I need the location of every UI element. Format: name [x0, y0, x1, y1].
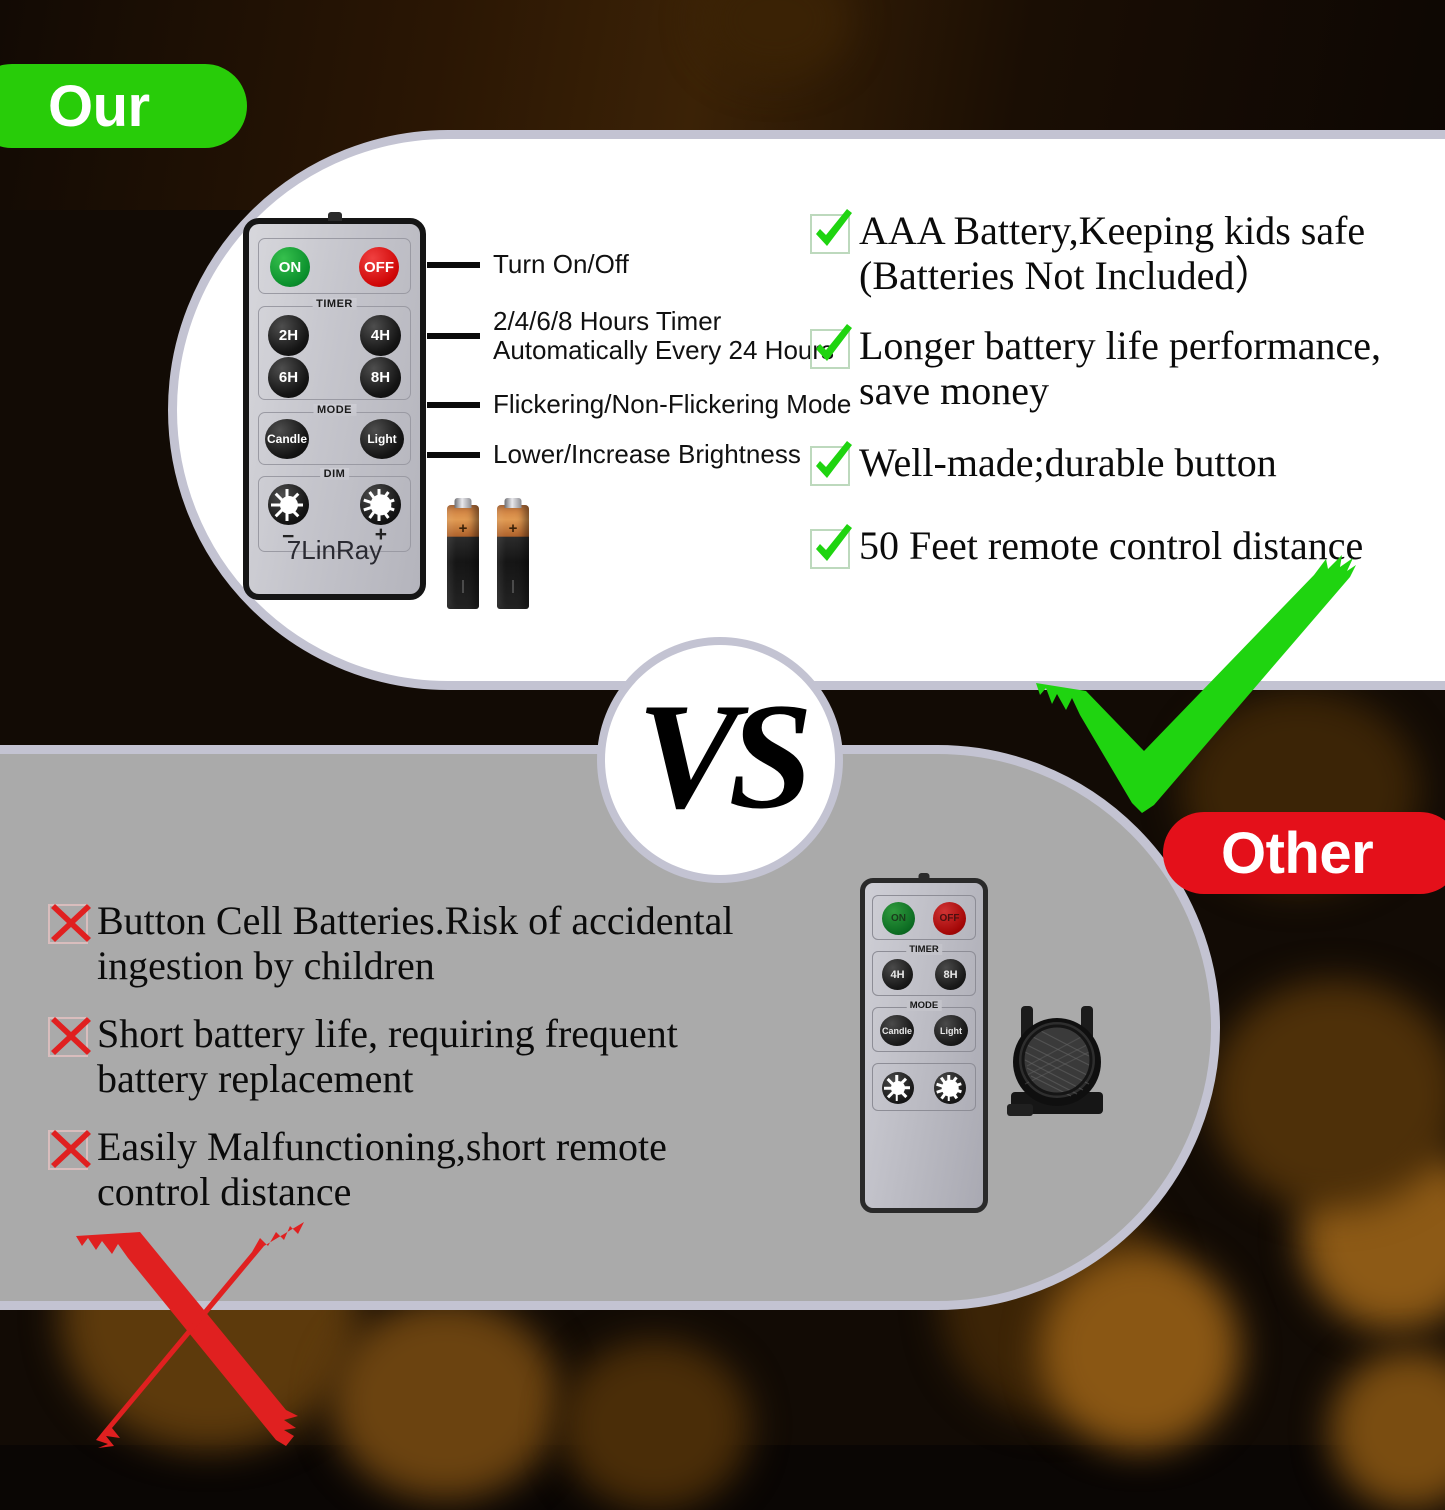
remote-brand-label: 7LinRay [249, 535, 420, 566]
callout-leader-line [427, 333, 480, 339]
other-mode-light-button[interactable]: Light [934, 1015, 968, 1046]
con-bullet-text: Easily Malfunctioning,short remote contr… [97, 1124, 667, 1214]
mode-group: MODE Candle Light [258, 412, 411, 465]
our-badge: Our [0, 64, 247, 148]
con-bullet: Button Cell Batteries.Risk of accidental… [48, 898, 734, 988]
callout-brightness: Lower/Increase Brightness [427, 440, 801, 469]
brightness-low-icon [268, 484, 309, 525]
checkmark-icon [810, 446, 850, 486]
callout-power: Turn On/Off [427, 250, 629, 279]
brightness-low-icon [882, 1072, 914, 1104]
brightness-high-icon [934, 1072, 966, 1104]
other-timer-4h-label: 4H [890, 969, 904, 981]
battery-polarity-label: + [447, 521, 479, 536]
callout-text: Flickering/Non-Flickering Mode [493, 390, 851, 419]
callout-mode: Flickering/Non-Flickering Mode [427, 390, 851, 419]
checkmark-icon [810, 529, 850, 569]
power-off-label: OFF [364, 259, 394, 276]
battery-terminal [505, 498, 522, 508]
bokeh-circle [330, 1300, 560, 1500]
other-timer-group: TIMER 4H 8H [872, 951, 976, 996]
bokeh-circle [1210, 980, 1445, 1210]
callout-text: Turn On/Off [493, 250, 629, 279]
con-bullet-text: Button Cell Batteries.Risk of accidental… [97, 898, 734, 988]
other-remote-control: ON OFF TIMER 4H 8H MODE Candle Light [860, 878, 988, 1213]
other-power-off-label: OFF [940, 913, 960, 924]
remote-ir-nub [328, 212, 342, 221]
cross-icon [48, 1017, 88, 1057]
other-mode-group-label: MODE [907, 1000, 942, 1011]
bokeh-circle [560, 1340, 750, 1510]
other-power-on-label: ON [891, 913, 906, 924]
timer-2h-button[interactable]: 2H [268, 315, 309, 356]
checkmark-icon [810, 214, 850, 254]
battery-stripe [512, 580, 514, 593]
mode-light-label: Light [367, 432, 396, 446]
battery-polarity-label: + [497, 521, 529, 536]
timer-4h-label: 4H [371, 327, 390, 344]
vs-badge: VS [597, 637, 843, 883]
mode-group-label: MODE [313, 404, 356, 416]
callout-leader-line [427, 452, 480, 458]
button-cell-battery-holder [1003, 1000, 1111, 1118]
bokeh-circle [1330, 1350, 1445, 1510]
timer-6h-button[interactable]: 6H [268, 357, 309, 398]
pro-bullet: Well-made;durable button [810, 440, 1277, 486]
vs-label: VS [637, 669, 803, 843]
pro-bullet-text: Longer battery life performance, save mo… [859, 323, 1381, 413]
callout-timer: 2/4/6/8 Hours Timer Automatically Every … [427, 307, 834, 366]
mode-candle-label: Candle [267, 432, 307, 446]
pro-bullet-text: AAA Battery,Keeping kids safe (Batteries… [859, 208, 1365, 298]
other-mode-candle-button[interactable]: Candle [880, 1015, 914, 1046]
timer-2h-label: 2H [279, 327, 298, 344]
con-bullet: Easily Malfunctioning,short remote contr… [48, 1124, 667, 1214]
callout-text: 2/4/6/8 Hours Timer Automatically Every … [493, 307, 834, 366]
con-bullet-text: Short battery life, requiring frequent b… [97, 1011, 678, 1101]
timer-group: TIMER 2H 4H 6H 8H [258, 306, 411, 400]
dim-group-label: DIM [320, 468, 350, 480]
cross-icon [48, 1130, 88, 1170]
other-mode-candle-label: Candle [882, 1026, 912, 1036]
callout-leader-line [427, 402, 480, 408]
dim-up-button[interactable] [360, 484, 401, 525]
bokeh-circle [1040, 1250, 1240, 1450]
battery-stripe [462, 580, 464, 593]
big-cross-icon [58, 1208, 338, 1448]
timer-4h-button[interactable]: 4H [360, 315, 401, 356]
power-off-button[interactable]: OFF [359, 247, 399, 287]
checkmark-icon [810, 329, 850, 369]
other-power-group: ON OFF [872, 895, 976, 940]
timer-8h-label: 8H [371, 369, 390, 386]
other-mode-light-label: Light [940, 1026, 962, 1036]
pro-bullet-text: Well-made;durable button [859, 440, 1277, 485]
other-timer-group-label: TIMER [906, 944, 942, 955]
other-timer-8h-button[interactable]: 8H [935, 959, 966, 990]
mode-light-button[interactable]: Light [360, 419, 404, 459]
callout-text: Lower/Increase Brightness [493, 440, 801, 469]
other-dim-down-button[interactable] [882, 1072, 914, 1104]
power-on-label: ON [279, 259, 302, 276]
brightness-high-icon [360, 484, 401, 525]
timer-group-label: TIMER [312, 298, 357, 310]
dim-down-button[interactable] [268, 484, 309, 525]
big-checkmark-icon [1020, 555, 1380, 820]
other-power-on-button[interactable]: ON [882, 902, 915, 935]
other-power-off-button[interactable]: OFF [933, 902, 966, 935]
other-badge: Other [1163, 812, 1445, 894]
other-badge-label: Other [1221, 820, 1373, 887]
power-group: ON OFF [258, 238, 411, 294]
other-dim-group [872, 1063, 976, 1111]
other-timer-8h-label: 8H [943, 969, 957, 981]
cross-icon [48, 904, 88, 944]
con-bullet: Short battery life, requiring frequent b… [48, 1011, 678, 1101]
battery-terminal [455, 498, 472, 508]
callout-leader-line [427, 262, 480, 268]
aaa-battery: + [497, 505, 529, 609]
our-badge-label: Our [48, 73, 150, 140]
our-remote-control: ON OFF TIMER 2H 4H 6H 8H MODE Candle Lig… [243, 218, 426, 600]
pro-bullet: Longer battery life performance, save mo… [810, 323, 1381, 413]
timer-6h-label: 6H [279, 369, 298, 386]
other-dim-up-button[interactable] [934, 1072, 966, 1104]
other-timer-4h-button[interactable]: 4H [882, 959, 913, 990]
pro-bullet: AAA Battery,Keeping kids safe (Batteries… [810, 208, 1365, 298]
aaa-battery: + [447, 505, 479, 609]
power-on-button[interactable]: ON [270, 247, 310, 287]
other-mode-group: MODE Candle Light [872, 1007, 976, 1052]
timer-8h-button[interactable]: 8H [360, 357, 401, 398]
remote-ir-nub [919, 873, 930, 880]
mode-candle-button[interactable]: Candle [265, 419, 309, 459]
